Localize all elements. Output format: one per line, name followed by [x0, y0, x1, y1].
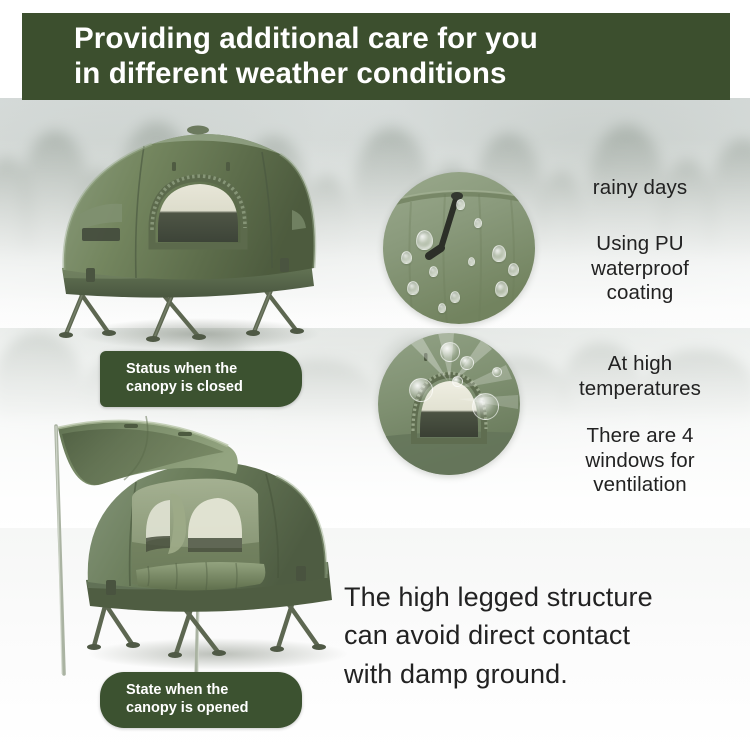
feature-high-temperatures: At high temperatures — [536, 352, 744, 401]
inset-ventilation-detail — [378, 333, 520, 475]
air-bubble — [492, 367, 502, 377]
air-bubble — [440, 342, 460, 362]
tent-open-image — [28, 402, 368, 687]
tent-closed-image — [48, 118, 348, 353]
caption-canopy-closed: Status when the canopy is closed — [100, 351, 302, 407]
rain-fabric-art — [383, 172, 535, 324]
caption-canopy-opened: State when the canopy is opened — [100, 672, 302, 728]
water-drop — [429, 266, 438, 277]
water-drop — [401, 251, 412, 264]
water-drop — [438, 303, 446, 313]
feature-rainy-days: rainy days — [540, 176, 740, 201]
feature-high-legged-structure: The high legged structure can avoid dire… — [344, 578, 744, 693]
air-bubble — [472, 393, 499, 420]
water-drop — [492, 245, 506, 262]
feature-ventilation: There are 4 windows for ventilation — [536, 424, 744, 498]
feature-pu-coating: Using PU waterproof coating — [540, 232, 740, 306]
header-banner: Providing additional care for you in dif… — [22, 13, 730, 100]
inset-rainy-detail — [383, 172, 535, 324]
water-drop — [508, 263, 519, 276]
water-drop — [474, 218, 482, 228]
water-drop — [450, 291, 460, 303]
product-feature-poster: Providing additional care for you in dif… — [0, 0, 750, 750]
banner-title: Providing additional care for you in dif… — [74, 22, 538, 90]
air-bubble — [452, 376, 463, 387]
water-drop — [468, 257, 475, 266]
air-bubble — [460, 356, 474, 370]
water-drop — [456, 199, 465, 210]
